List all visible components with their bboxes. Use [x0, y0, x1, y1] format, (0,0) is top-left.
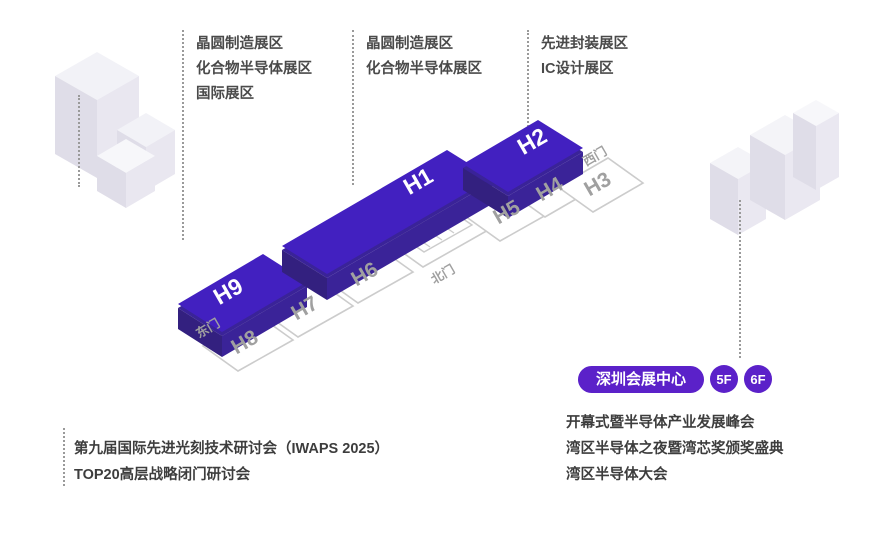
annotation-line: 晶圆制造展区 — [196, 32, 312, 57]
annotation-group-1: 晶圆制造展区 化合物半导体展区 国际展区 — [196, 32, 312, 107]
left-building-dotline — [78, 95, 80, 187]
bottom-left-line: TOP20高层战略闭门研讨会 — [74, 462, 389, 488]
venue-name-pill[interactable]: 深圳会展中心 — [578, 366, 704, 393]
annotation-group-3: 先进封装展区 IC设计展区 — [541, 32, 628, 82]
right-buildings-group — [700, 95, 850, 255]
bottom-right-text: 开幕式暨半导体产业发展峰会 湾区半导体之夜暨湾芯奖颁奖盛典 湾区半导体大会 — [566, 410, 784, 488]
annotation-group-2: 晶圆制造展区 化合物半导体展区 — [366, 32, 482, 82]
annotation-line: 先进封装展区 — [541, 32, 628, 57]
venue-map-canvas: 晶圆制造展区 化合物半导体展区 国际展区 晶圆制造展区 化合物半导体展区 先进封… — [0, 0, 880, 539]
bottom-left-text: 第九届国际先进光刻技术研讨会（IWAPS 2025） TOP20高层战略闭门研讨… — [74, 436, 389, 488]
right-building-dotline — [739, 200, 741, 358]
annotation-line: 化合物半导体展区 — [196, 57, 312, 82]
gate-label-north: 北门 — [428, 261, 457, 286]
annotation-line: 化合物半导体展区 — [366, 57, 482, 82]
annotation-line: IC设计展区 — [541, 57, 628, 82]
building-right-3 — [793, 100, 839, 190]
floor-badge-6f[interactable]: 6F — [744, 365, 772, 393]
annotation-line: 晶圆制造展区 — [366, 32, 482, 57]
bottom-left-dotline — [63, 428, 65, 486]
bottom-right-line: 湾区半导体大会 — [566, 462, 784, 488]
annotation-line: 国际展区 — [196, 82, 312, 107]
bottom-right-line: 开幕式暨半导体产业发展峰会 — [566, 410, 784, 436]
bottom-left-line: 第九届国际先进光刻技术研讨会（IWAPS 2025） — [74, 436, 389, 462]
bottom-right-line: 湾区半导体之夜暨湾芯奖颁奖盛典 — [566, 436, 784, 462]
venue-badge: 深圳会展中心 5F 6F — [578, 365, 772, 393]
floor-badge-5f[interactable]: 5F — [710, 365, 738, 393]
